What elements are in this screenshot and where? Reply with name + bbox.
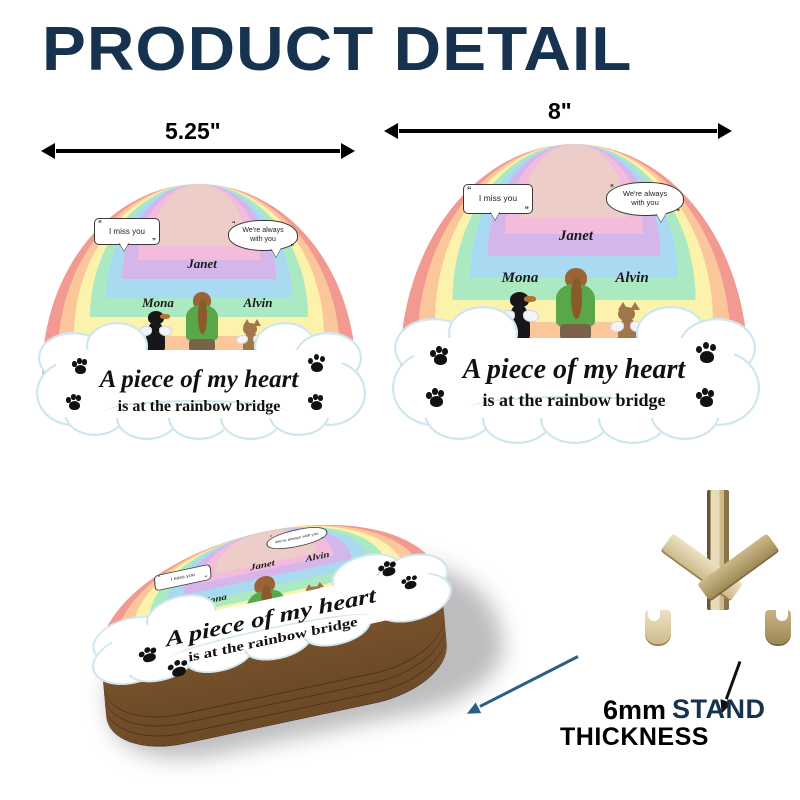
product-detail-page: PRODUCT DETAIL 5.25" 8" <box>0 0 800 800</box>
angled-thickness-view: Janet Mona Alvin “ I miss you ” “ We're … <box>92 530 522 760</box>
open-quote: “ <box>610 183 614 192</box>
bubble-tail <box>119 242 129 251</box>
speech-bubble-text: I miss you <box>170 573 195 583</box>
speech-bubble-always-with-you: “ We're always with you ” <box>606 182 684 216</box>
quote-line-2: is at the rainbow bridge <box>400 390 748 411</box>
name-label-person: Janet <box>162 256 242 272</box>
speech-bubble-text: We're always with you <box>275 532 319 545</box>
close-quote: ” <box>676 208 680 217</box>
open-quote: “ <box>270 535 273 540</box>
speech-bubble-always-with-you: “ We're always with you ” <box>228 220 298 251</box>
quote-line-2: is at the rainbow bridge <box>42 398 356 416</box>
cloud-banner: A piece of my heart is at the rainbow br… <box>42 324 356 440</box>
speech-bubble-text: We're always with you <box>617 190 673 207</box>
speech-bubble-text: We're always with you <box>238 227 288 243</box>
name-label-person: Janet <box>534 228 618 245</box>
open-quote: “ <box>467 185 472 195</box>
large-front-view: Janet Mona Alvin “ I miss you ” “ We're … <box>400 144 748 444</box>
stand-foot-right <box>765 610 791 644</box>
quote-line-1: A piece of my heart <box>42 366 356 394</box>
name-label-pet-right: Alvin <box>590 270 674 287</box>
open-quote: “ <box>232 221 236 229</box>
stand-callout-label: STAND <box>672 694 766 725</box>
wooden-easel-stand <box>645 490 795 690</box>
close-quote: ” <box>525 205 530 215</box>
thickness-word: THICKNESS <box>560 724 709 750</box>
page-title: PRODUCT DETAIL <box>42 14 632 85</box>
close-quote: ” <box>152 237 156 246</box>
quote-line-1: A piece of my heart <box>400 354 748 386</box>
dimension-arrow-large <box>399 129 717 133</box>
name-label-pet-right: Alvin <box>218 295 298 311</box>
dimension-label-small: 5.25" <box>165 118 221 145</box>
speech-bubble-i-miss-you: “ I miss you ” <box>463 184 533 214</box>
close-quote: ” <box>205 576 208 582</box>
bubble-tail <box>271 248 281 257</box>
dimension-label-large: 8" <box>548 98 572 125</box>
speech-bubble-i-miss-you: “ I miss you ” <box>94 218 160 245</box>
open-quote: “ <box>98 219 102 228</box>
bubble-tail <box>656 213 666 222</box>
name-label-pet-left: Mona <box>118 295 198 311</box>
dimension-arrow-small <box>56 149 340 153</box>
speech-bubble-text: I miss you <box>479 194 517 204</box>
layered-wood-stack: Janet Mona Alvin “ I miss you ” “ We're … <box>87 490 476 770</box>
close-quote: ” <box>291 244 295 252</box>
cloud-banner: A piece of my heart is at the rainbow br… <box>400 310 748 444</box>
open-quote: “ <box>158 575 161 581</box>
close-quote: ” <box>321 537 324 542</box>
small-front-view: Janet Mona Alvin “ I miss you ” “ We're … <box>42 184 356 440</box>
speech-bubble-text: I miss you <box>109 227 145 236</box>
bubble-tail <box>490 211 500 220</box>
name-label-pet-left: Mona <box>478 270 562 287</box>
stand-foot-left <box>645 610 671 644</box>
